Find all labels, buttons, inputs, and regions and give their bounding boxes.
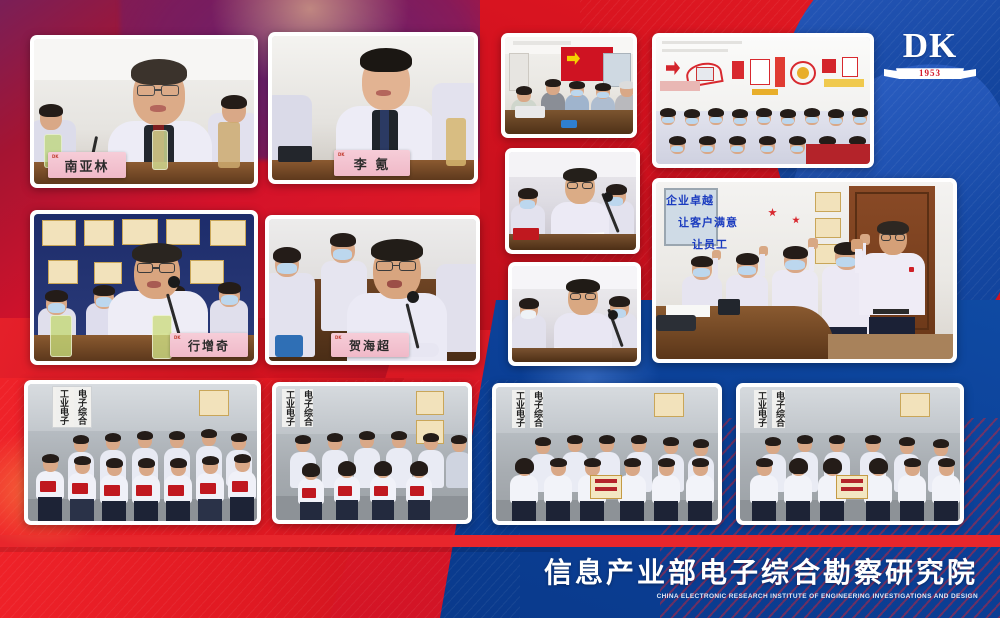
wall-slogan-3: 让员工: [692, 236, 728, 252]
photo-conference-hall-audience: [652, 33, 874, 168]
wall-slogan-1: 企业卓越: [666, 192, 714, 208]
nameplate-badge: DK: [174, 335, 180, 340]
dk-logo-ribbon: 1953: [884, 65, 976, 81]
photo-reading-speaker-a: [505, 148, 640, 254]
photo-party-flag-meeting: [501, 33, 637, 138]
photo-reading-speaker-b: [508, 262, 641, 366]
nameplate-xing-zeng-qi: DK 行增奇: [170, 333, 248, 357]
signboard-6: 电子综合: [530, 390, 543, 428]
photo-speaker-li-ke: DK 李 氪: [268, 32, 478, 184]
nameplate-he-hai-chao: DK 贺海超: [331, 333, 409, 357]
nameplate-li-ke: DK 李 氪: [334, 150, 410, 176]
brand-name-en: CHINA ELECTRONIC RESEARCH INSTITUTE OF E…: [544, 593, 978, 600]
photo-speaker-xing-zeng-qi: DK 行增奇: [30, 210, 258, 365]
photo-oath-ceremony: 企业卓越 让客户满意 让员工: [652, 178, 957, 363]
brand-lockup: 信息产业部电子综合勘察研究院 CHINA ELECTRONIC RESEARCH…: [544, 556, 978, 600]
photo-speaker-he-hai-chao: DK 贺海超: [265, 215, 480, 365]
signboard-4: 电子综合: [300, 389, 313, 427]
signboard-3: 工业电子: [282, 389, 295, 427]
nameplate-badge: DK: [335, 335, 341, 340]
nameplate-badge: DK: [338, 152, 344, 157]
nameplate-nan-ya-lin: DK 南亚林: [48, 152, 126, 178]
nameplate-text: 南亚林: [64, 156, 109, 175]
wall-slogan-2: 让客户满意: [678, 214, 738, 230]
signboard-7: 工业电子: [754, 390, 767, 428]
photo-group-award-2: 工业电子 电子综合: [272, 382, 472, 524]
dk-logo: DK 1953: [882, 28, 978, 88]
nameplate-text: 贺海超: [349, 337, 391, 354]
photo-group-award-4: 工业电子 电子综合: [736, 383, 964, 525]
poster-canvas: DK 南亚林: [0, 0, 1000, 618]
photo-group-award-3: 工业电子 电子综合: [492, 383, 722, 525]
signboard-5: 工业电子: [512, 390, 525, 428]
signboard-2: 电子综合: [74, 387, 87, 427]
accent-stripe-red: [0, 535, 1000, 547]
photo-group-award-1: 工业电子 电子综合: [24, 380, 261, 525]
signboard-8: 电子综合: [772, 390, 785, 428]
nameplate-text: 李 氪: [354, 154, 391, 173]
brand-name-cn: 信息产业部电子综合勘察研究院: [544, 556, 978, 590]
nameplate-text: 行增奇: [188, 337, 230, 354]
dk-logo-mark: DK: [882, 28, 978, 64]
nameplate-badge: DK: [52, 154, 58, 159]
photo-speaker-nan-ya-lin: DK 南亚林: [30, 35, 258, 188]
dk-logo-year: 1953: [884, 68, 976, 78]
signboard-1: 工业电子: [56, 387, 69, 427]
